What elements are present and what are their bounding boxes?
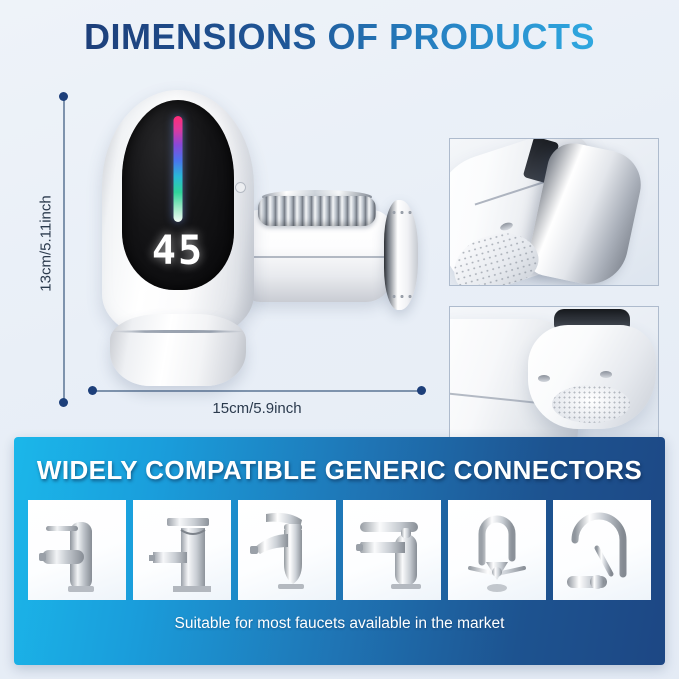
height-dimension-label: 13cm/5.11inch <box>38 184 55 304</box>
width-dimension-line <box>92 390 422 392</box>
inset-photo-faucet-head-nozzle <box>449 306 659 454</box>
page-title-container: DIMENSIONS OF PRODUCTS <box>0 16 679 58</box>
product-base-seam <box>112 330 244 333</box>
height-marker-bottom-dot <box>59 398 68 407</box>
faucet-thumbnail-gooseneck-dual-cross[interactable] <box>448 500 546 600</box>
curved-single-lever-faucet-icon <box>238 500 336 600</box>
chrome-knurled-collar <box>258 196 376 226</box>
rainbow-indicator-bar <box>174 116 183 222</box>
gooseneck-single-lever-kitchen-faucet-icon <box>553 500 651 600</box>
square-modern-faucet-icon <box>133 500 231 600</box>
connector-arm-seam <box>246 256 388 258</box>
faucet-thumbnail-row <box>28 500 651 600</box>
compatibility-banner: WIDELY COMPATIBLE GENERIC CONNECTORS <box>14 437 665 665</box>
round-cylindrical-faucet-icon <box>28 500 126 600</box>
faucet-thumbnail-flat-spout-single-lever[interactable] <box>343 500 441 600</box>
spray-nozzle-face <box>552 385 630 423</box>
faucet-thumbnail-square-modern[interactable] <box>133 500 231 600</box>
faucet-thumbnail-gooseneck-single-lever[interactable] <box>553 500 651 600</box>
banner-title: WIDELY COMPATIBLE GENERIC CONNECTORS <box>14 455 665 486</box>
temperature-readout: 45 <box>122 228 234 274</box>
width-dimension-label: 15cm/5.9inch <box>92 400 422 417</box>
product-image: 45 <box>92 78 422 388</box>
height-marker-top-dot <box>59 92 68 101</box>
banner-caption: Suitable for most faucets available in t… <box>14 615 665 633</box>
product-dimensions-stage: 13cm/5.11inch 15cm/5.9inch 45 <box>0 70 679 430</box>
height-dimension-line <box>63 96 65 406</box>
end-cap-vent-dots-lower <box>392 294 412 299</box>
side-button-icon <box>235 182 246 193</box>
nozzle-port-right-icon <box>600 371 612 378</box>
faucet-thumbnail-round-cylindrical[interactable] <box>28 500 126 600</box>
led-display-panel: 45 <box>122 100 234 290</box>
product-base <box>110 314 246 386</box>
flat-spout-single-lever-faucet-icon <box>343 500 441 600</box>
nozzle-port-left-icon <box>538 375 550 382</box>
inset-photo-faucet-head-angled <box>449 138 659 286</box>
page-title: DIMENSIONS OF PRODUCTS <box>84 16 595 58</box>
gooseneck-dual-cross-handle-faucet-icon <box>448 500 546 600</box>
end-cap-vent-dots-upper <box>392 210 412 215</box>
faucet-thumbnail-curved-single-lever[interactable] <box>238 500 336 600</box>
